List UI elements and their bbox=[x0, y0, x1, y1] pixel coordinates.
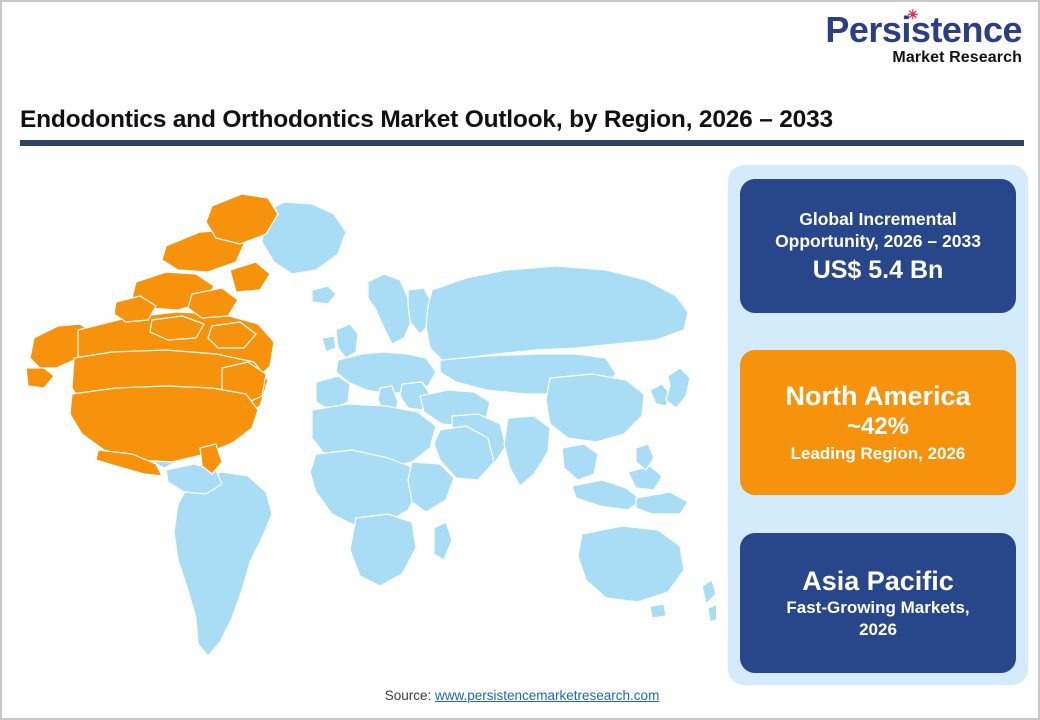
card2-caption: Leading Region, 2026 bbox=[791, 443, 966, 465]
card2-share: ~42% bbox=[847, 413, 909, 441]
card-leading-region: North America ~42% Leading Region, 2026 bbox=[740, 350, 1016, 495]
card1-line2: Opportunity, 2026 – 2033 bbox=[775, 230, 981, 252]
title-block: Endodontics and Orthodontics Market Outl… bbox=[20, 106, 1024, 146]
source-line: Source: www.persistencemarketresearch.co… bbox=[2, 688, 1040, 703]
brand-tagline: Market Research bbox=[802, 50, 1022, 66]
card-fast-growing-region: Asia Pacific Fast-Growing Markets, 2026 bbox=[740, 533, 1016, 673]
brand-name: Persistence ✳ bbox=[825, 12, 1022, 48]
stats-panel: Global Incremental Opportunity, 2026 – 2… bbox=[728, 165, 1028, 685]
infographic-frame: Persistence ✳ Market Research Endodontic… bbox=[0, 0, 1040, 720]
title-underline bbox=[20, 140, 1024, 146]
card3-caption-line2: 2026 bbox=[859, 619, 897, 641]
source-label: Source: bbox=[385, 688, 432, 703]
source-link[interactable]: www.persistencemarketresearch.com bbox=[435, 688, 659, 703]
card1-value: US$ 5.4 Bn bbox=[813, 255, 944, 285]
card3-caption-line1: Fast-Growing Markets, bbox=[786, 597, 969, 619]
card2-region: North America bbox=[785, 380, 970, 412]
card1-line1: Global Incremental bbox=[799, 208, 957, 230]
asterisk-icon: ✳ bbox=[907, 10, 916, 19]
map-region-north-america bbox=[26, 194, 278, 476]
card-global-incremental-opportunity: Global Incremental Opportunity, 2026 – 2… bbox=[740, 179, 1016, 313]
card3-region: Asia Pacific bbox=[802, 565, 954, 597]
world-map bbox=[16, 162, 716, 672]
page-title: Endodontics and Orthodontics Market Outl… bbox=[20, 106, 1024, 134]
brand-logo: Persistence ✳ Market Research bbox=[802, 12, 1022, 66]
brand-name-text: Persistence bbox=[825, 9, 1022, 50]
